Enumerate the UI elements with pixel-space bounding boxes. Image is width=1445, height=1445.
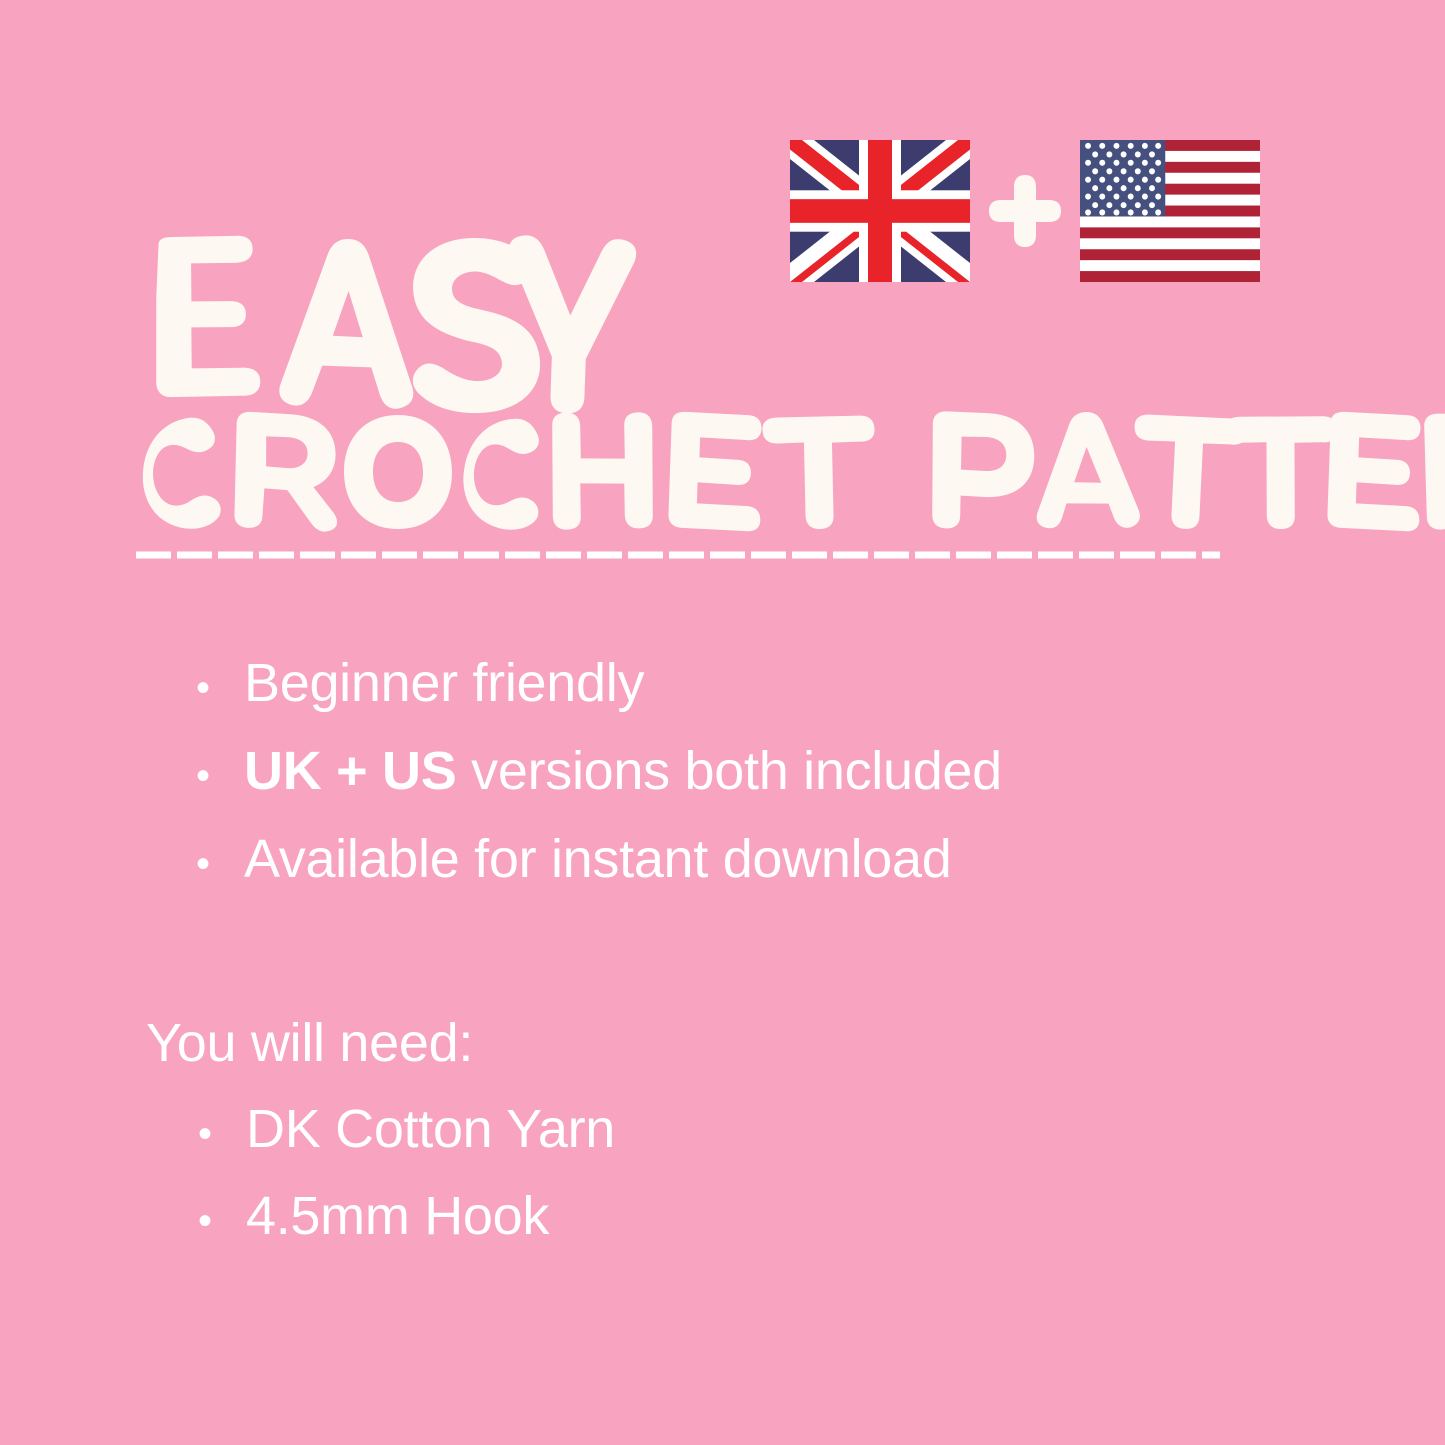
needs-heading: You will need: — [146, 1012, 473, 1074]
page-title — [143, 236, 1263, 530]
feature-list: • Beginner friendly • UK + US versions b… — [196, 652, 1336, 916]
list-item: • Beginner friendly — [196, 652, 1336, 740]
dashed-divider — [136, 551, 1220, 559]
bullet-icon: • — [196, 756, 244, 796]
list-item: • DK Cotton Yarn — [198, 1098, 1098, 1185]
list-item: • Available for instant download — [196, 828, 1336, 916]
bullet-icon: • — [196, 844, 244, 884]
list-item: • UK + US versions both included — [196, 740, 1336, 828]
feature-text-download: Available for instant download — [244, 828, 951, 890]
needs-list: • DK Cotton Yarn • 4.5mm Hook — [198, 1098, 1098, 1272]
feature-text-beginner: Beginner friendly — [244, 652, 644, 714]
need-text-yarn: DK Cotton Yarn — [246, 1098, 615, 1160]
headline-line-1 — [143, 236, 1263, 418]
bullet-icon: • — [198, 1201, 246, 1241]
feature-bold-uk-us: UK + US — [244, 741, 456, 801]
headline-line-2 — [143, 412, 1263, 530]
poster-canvas: • Beginner friendly • UK + US versions b… — [0, 0, 1445, 1445]
list-item: • 4.5mm Hook — [198, 1185, 1098, 1272]
feature-text-versions: UK + US versions both included — [244, 740, 1002, 802]
need-text-hook: 4.5mm Hook — [246, 1185, 549, 1247]
bullet-icon: • — [198, 1114, 246, 1154]
bullet-icon: • — [196, 668, 244, 708]
